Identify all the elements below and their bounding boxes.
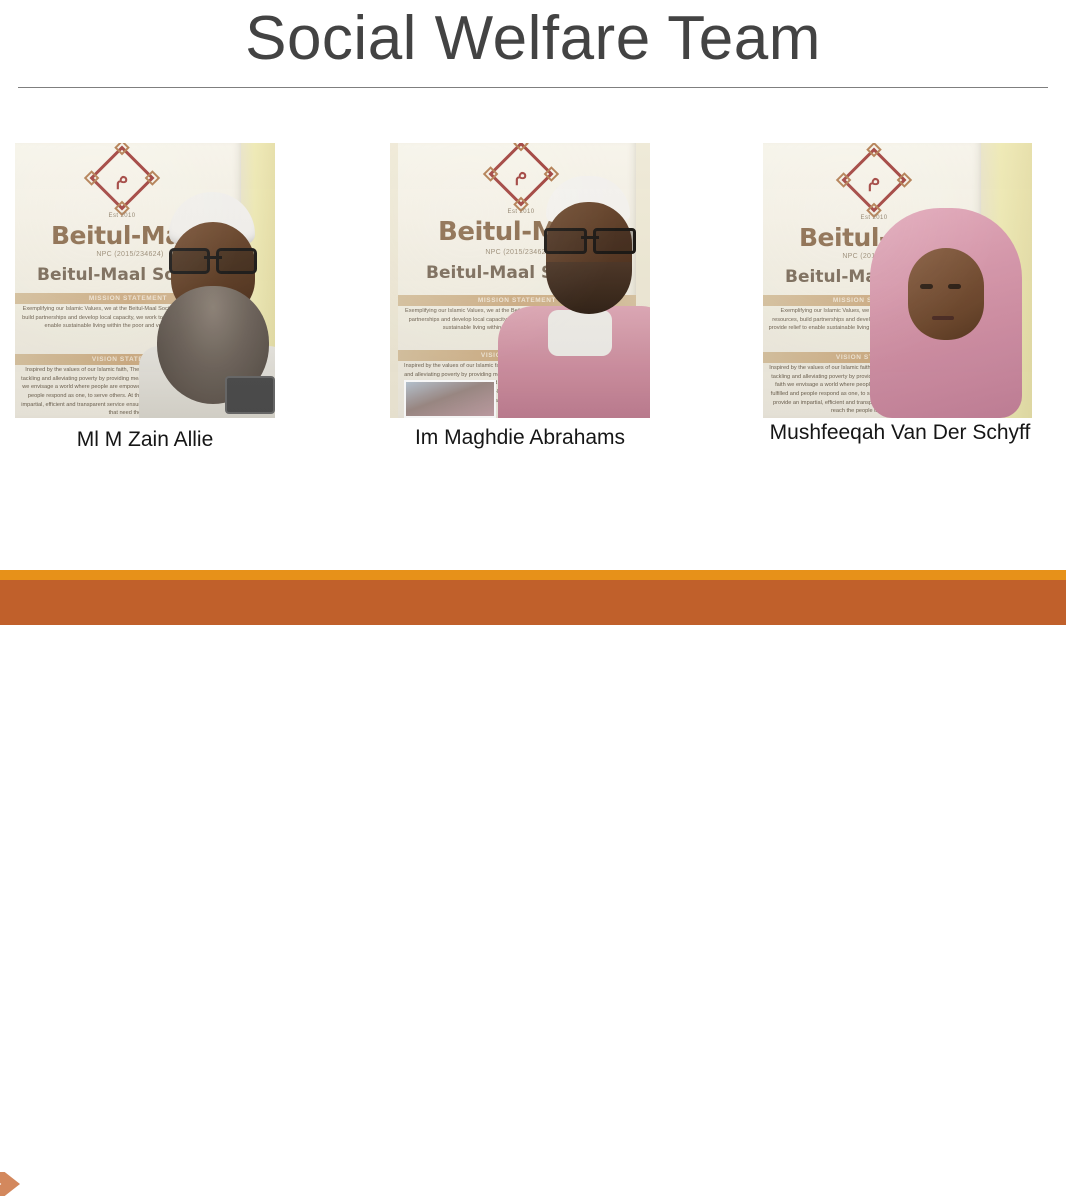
person-eye-left bbox=[920, 284, 933, 289]
chevron-right-icon bbox=[0, 1172, 20, 1196]
team-member-photo-1: م Est 2010 Beitul-Maal NPC (2015/234624)… bbox=[15, 143, 275, 418]
logo-calligraphy-icon: م bbox=[115, 167, 129, 189]
person-figure bbox=[131, 178, 275, 418]
glasses-lens-right bbox=[593, 228, 636, 254]
logo-corner-ornament bbox=[84, 170, 100, 186]
person-pocket-device bbox=[225, 376, 275, 414]
logo-corner-ornament bbox=[897, 172, 913, 188]
person-mouth bbox=[932, 316, 954, 320]
team-member-name-3: Mushfeeqah Van Der Schyff bbox=[755, 421, 1045, 445]
team-member-name-2: Im Maghdie Abrahams bbox=[385, 426, 655, 450]
logo-corner-ornament bbox=[866, 143, 882, 157]
glasses-lens-right bbox=[216, 248, 257, 274]
person-eye-right bbox=[948, 284, 961, 289]
footer-band bbox=[0, 580, 1066, 625]
logo-corner-ornament bbox=[114, 143, 130, 155]
glasses-lens-left bbox=[169, 248, 210, 274]
page-title: Social Welfare Team bbox=[0, 6, 1066, 71]
person-glasses-icon bbox=[544, 228, 636, 248]
person-face bbox=[908, 248, 984, 340]
beitul-maal-logo-icon: م bbox=[841, 147, 906, 212]
logo-calligraphy-icon: م bbox=[867, 169, 881, 191]
logo-corner-ornament bbox=[513, 143, 529, 151]
team-member-photo-3: م Est 2010 Beitul-Maal NPC (2015/234624)… bbox=[763, 143, 1032, 418]
person-collar bbox=[548, 310, 612, 356]
collage-thumbnail bbox=[404, 380, 496, 418]
team-member-name-1: Ml M Zain Allie bbox=[15, 428, 275, 452]
title-divider bbox=[18, 87, 1048, 88]
person-figure bbox=[870, 208, 1022, 418]
footer-accent-bar bbox=[0, 570, 1066, 580]
logo-corner-ornament bbox=[483, 166, 499, 182]
team-member-photo-2: م Est 2010 Beitul-Maal NPC (2015/234624)… bbox=[390, 143, 650, 418]
person-glasses-icon bbox=[169, 248, 257, 268]
person-figure bbox=[502, 166, 650, 418]
glasses-lens-left bbox=[544, 228, 587, 254]
logo-corner-ornament bbox=[836, 172, 852, 188]
